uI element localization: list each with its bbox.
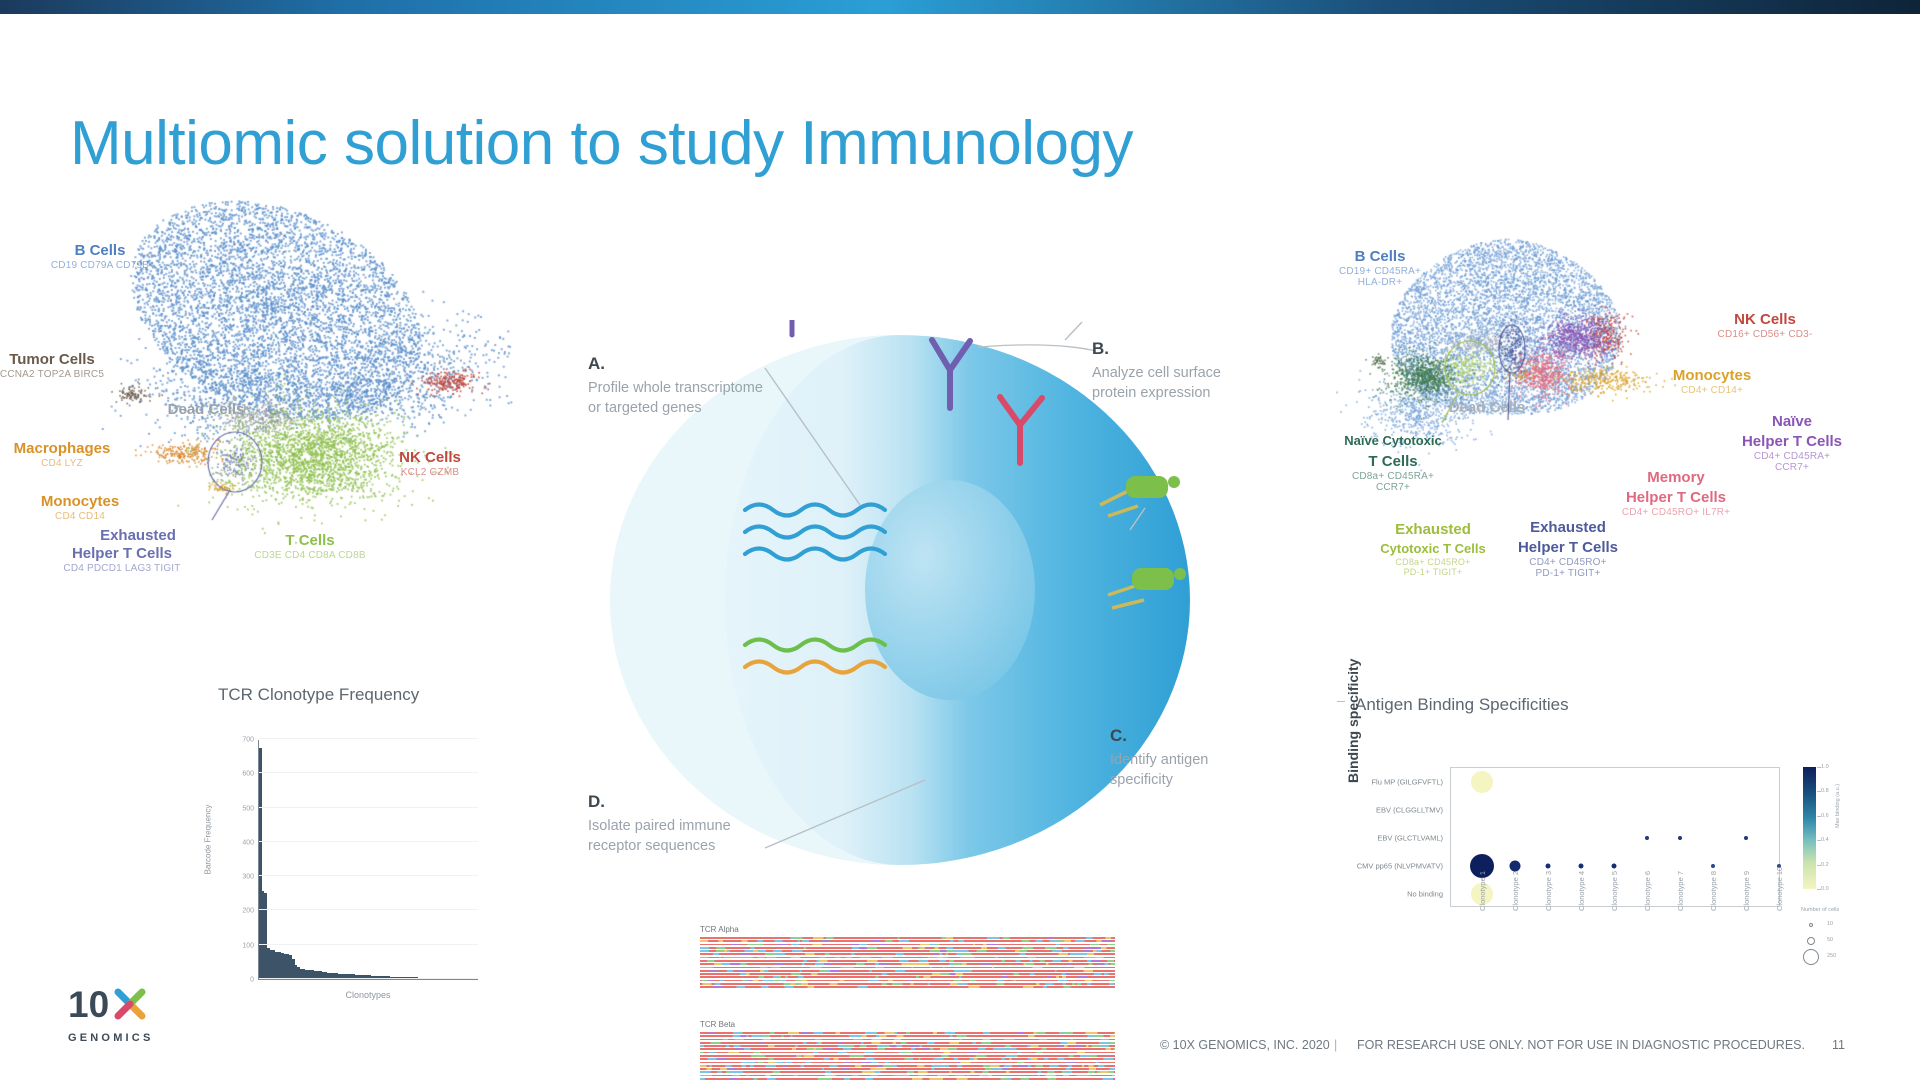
y-axis-tick: 0 [250,977,254,984]
step-key: C. [1110,724,1208,747]
step-text: Profile whole transcriptome [588,378,763,398]
sequence-read [700,963,1115,965]
label-title: NK Cells [399,450,461,467]
y-axis-tick: Flu MP (GILGFVFTL) [1371,778,1443,787]
data-point [1744,836,1748,840]
umap-label-t-cells: T CellsCD8a+ CD45RA+CCR7+ [1352,454,1434,493]
step-text: Identify antigen [1110,750,1208,770]
colorbar-tick-label: 0.6 [1821,813,1829,819]
label-title: B Cells [51,243,149,260]
data-point [1645,836,1649,840]
umap-label-helper-t-cells: Helper T CellsCD4+ CD45RO+PD-1+ TIGIT+ [1518,540,1618,579]
umap-label-nk-cells: NK CellsKCL2 GZMB [399,450,461,478]
label-title: Exhausted [1530,520,1606,537]
label-title: Helper T Cells [1742,434,1842,451]
diagram-step-b: B.Analyze cell surfaceprotein expression [1092,337,1221,403]
umap-label-nk-cells: NK CellsCD16+ CD56+ CD3- [1718,312,1813,340]
sequence-panel-title: TCR Beta [700,1020,1115,1029]
sequence-read [700,1055,1115,1057]
y-axis-tick: 600 [242,771,254,778]
sequence-read [700,957,1115,959]
label-title: NK Cells [1718,312,1813,329]
label-markers: CD16+ CD56+ CD3- [1718,329,1813,340]
data-point [1611,864,1616,869]
umap-label-monocytes: MonocytesCD4+ CD14+ [1673,368,1751,396]
gridline [259,807,478,808]
label-markers: CD3E CD4 CD8A CD8B [254,550,365,561]
umap-label-dead-cells: Dead Cells [168,402,245,419]
sequence-read [700,944,1115,946]
x-axis-tick: Clonotype 3 [1544,871,1553,911]
label-markers: CD4+ CD45RO+ IL7R+ [1622,507,1730,518]
label-title: Helper T Cells [1518,540,1618,557]
sequence-read [700,953,1115,955]
umap-label-na-ve: Naïve [1772,414,1812,431]
x-axis-tick: Clonotype 5 [1610,871,1619,911]
umap-label-exhausted: Exhausted [1530,520,1606,537]
step-key: A. [588,352,763,375]
sequence-read [700,1071,1115,1073]
data-point [1471,771,1493,793]
label-title: Memory [1647,470,1705,487]
gridline [259,738,478,739]
step-text: Analyze cell surface [1092,363,1221,383]
x-axis-tick: Clonotype 6 [1643,871,1652,911]
brand-logo: 10 GENOMICS [68,985,188,1044]
sequence-read [700,950,1115,952]
footer-disclaimer: FOR RESEARCH USE ONLY. NOT FOR USE IN DI… [1357,1038,1805,1052]
label-markers: CCR7+ [1352,482,1434,493]
umap-label-macrophages: MacrophagesCD4 LYZ [14,441,111,469]
x-axis-tick: Clonotype 2 [1511,871,1520,911]
label-title: Naïve [1772,414,1812,431]
y-axis-label: Barcode Frequency [204,805,213,875]
label-markers: CD19+ CD45RA+ [1339,266,1421,277]
y-axis-tick: No binding [1407,890,1443,899]
umap-label-helper-t-cells: Helper T CellsCD4+ CD45RA+CCR7+ [1742,434,1842,473]
gridline [259,909,478,910]
label-markers: PD-1+ TIGIT+ [1380,567,1485,577]
label-title: Helper T Cells [63,546,180,563]
sequence-read [700,976,1115,978]
y-axis-tick: 300 [242,874,254,881]
label-markers: CD4 LYZ [14,458,111,469]
colorbar-label: Max binding (a.u.) [1835,784,1841,828]
step-text: specificity [1110,770,1208,790]
sequence-read [700,1058,1115,1060]
label-title: B Cells [1339,249,1421,266]
sequence-read [700,980,1115,982]
step-text: receptor sequences [588,836,731,856]
step-text: protein expression [1092,383,1221,403]
data-point [1509,861,1520,872]
colorbar-tick-label: 0.4 [1821,837,1829,843]
sequence-panel: TCR Beta [700,1020,1115,1080]
gridline [259,875,478,876]
umap-label-exhausted: Exhausted [100,528,176,545]
x-axis-tick: Clonotype 1 [1478,871,1487,911]
x-axis-tick: Clonotype 7 [1676,871,1685,911]
sequence-read [700,960,1115,962]
antigen-binding-specificities-chart: Antigen Binding Specificities Binding sp… [1335,695,1895,1015]
sequence-read [700,1062,1115,1064]
antibody-leader-line [978,345,1096,351]
size-legend-marker [1807,937,1815,945]
label-title: T Cells [254,533,365,550]
sequence-read [700,947,1115,949]
umap-label-b-cells: B CellsCD19+ CD45RA+HLA-DR+ [1339,249,1421,288]
x-axis-tick: Clonotype 10 [1775,867,1784,911]
colorbar-tick-label: 0.8 [1821,788,1829,794]
sequence-read [700,1065,1115,1067]
label-title: Tumor Cells [0,352,104,369]
size-legend-marker [1809,923,1813,927]
label-markers: KCL2 GZMB [399,467,461,478]
sequence-read [700,983,1115,985]
slide-top-accent-bar [0,0,1920,14]
footer-separator: | [1334,1038,1337,1052]
label-markers: CD8a+ CD45RA+ [1352,471,1434,482]
label-markers: CCNA2 TOP2A BIRC5 [0,369,104,380]
size-legend-marker [1803,949,1819,965]
size-legend-value: 50 [1827,937,1833,943]
umap-label-tumor-cells: Tumor CellsCCNA2 TOP2A BIRC5 [0,352,104,380]
size-legend-value: 10 [1827,921,1833,927]
plot-area: 0100200300400500600700 [258,740,478,980]
colorbar-tick-label: 1.0 [1821,764,1829,770]
gridline [259,944,478,945]
umap-label-memory: Memory [1647,470,1705,487]
sequence-read [700,940,1115,942]
colorbar-tick-label: 0.2 [1821,862,1829,868]
label-markers: CD4 PDCD1 LAG3 TIGIT [63,563,180,574]
sequence-panel: TCR Alpha [700,925,1115,990]
y-axis-tick: 500 [242,805,254,812]
sequence-read [700,1042,1115,1044]
sequence-read [700,973,1115,975]
antibody-purple [770,320,816,335]
slide-page-number: 11 [1832,1038,1845,1052]
y-axis-tick: 100 [242,942,254,949]
logo-wordmark: GENOMICS [68,1032,188,1044]
y-axis-tick: 400 [242,839,254,846]
colorbar-tick-label: 0.0 [1821,886,1829,892]
label-title: Macrophages [14,441,111,458]
gridline [259,772,478,773]
label-title: Dead Cells [1449,400,1526,417]
umap-label-helper-t-cells: Helper T CellsCD4+ CD45RO+ IL7R+ [1622,490,1730,518]
x-axis-tick: Clonotype 8 [1709,871,1718,911]
sequence-read [700,1048,1115,1050]
svg-text:10: 10 [68,985,109,1025]
y-axis-tick: CMV pp65 (NLVPMVATV) [1357,862,1443,871]
sequence-read [700,986,1115,988]
sequence-read [700,1075,1115,1077]
step-text: Isolate paired immune [588,816,731,836]
data-point [1711,864,1715,868]
label-markers: HLA-DR+ [1339,277,1421,288]
step-key: B. [1092,337,1221,360]
sequence-read [700,1032,1115,1034]
label-markers: CD19 CD79A CD79B [51,260,149,271]
sequence-read [700,1078,1115,1080]
sequence-read [700,1068,1115,1070]
chart-title: Antigen Binding Specificities [1355,695,1569,715]
y-axis-tick: 700 [242,737,254,744]
footer-copyright: © 10X GENOMICS, INC. 2020 [1160,1038,1330,1052]
umap-label-cytotoxic-t-cells: Cytotoxic T CellsCD8a+ CD45RO+PD-1+ TIGI… [1380,542,1485,577]
size-legend-value: 250 [1827,953,1836,959]
label-markers: CD8a+ CD45RO+ [1380,557,1485,567]
umap-label-t-cells: T CellsCD3E CD4 CD8A CD8B [254,533,365,561]
sequence-panel-title: TCR Alpha [700,925,1115,934]
antibody-red-icon [1000,397,1042,463]
umap-label-monocytes: MonocytesCD4 CD14 [41,494,119,522]
label-title: Dead Cells [168,402,245,419]
size-legend-label: Number of cells [1801,907,1839,913]
diagram-step-d: D.Isolate paired immunereceptor sequence… [588,790,731,856]
colorbar [1803,767,1816,889]
label-markers: CD4+ CD45RA+ [1742,451,1842,462]
sequence-read [700,1035,1115,1037]
y-axis-tick: EBV (CLGGLLTMV) [1376,806,1443,815]
label-title: Monocytes [1673,368,1751,385]
x-axis-tick: Clonotype 9 [1742,871,1751,911]
antibody-purple-icon [932,340,970,408]
sequence-read [700,970,1115,972]
y-axis-label: Binding specificity [1345,659,1361,783]
page-title: Multiomic solution to study Immunology [70,108,1133,179]
diagram-step-a: A.Profile whole transcriptomeor targeted… [588,352,763,418]
label-title: Cytotoxic T Cells [1380,542,1485,557]
gene-expression-umap-plot: B CellsCD19 CD79A CD79BTumor CellsCCNA2 … [60,190,520,590]
y-axis-tick: EBV (GLCTLVAML) [1377,834,1443,843]
tick-dash [1337,701,1345,702]
chart-title: TCR Clonotype Frequency [218,685,500,705]
label-markers: CD4+ CD45RO+ [1518,557,1618,568]
gridline [259,978,478,979]
gridline [259,841,478,842]
x-axis-label: Clonotypes [258,990,478,1000]
tenx-logo-icon: 10 [68,985,160,1025]
label-title: Exhausted [1395,522,1471,539]
sequence-read [700,937,1115,939]
label-markers: CCR7+ [1742,462,1842,473]
label-title: Monocytes [41,494,119,511]
tcr-clonotype-frequency-chart: TCR Clonotype Frequency Barcode Frequenc… [200,685,500,1025]
label-markers: PD-1+ TIGIT+ [1518,568,1618,579]
data-point [1678,836,1682,840]
data-point [1578,864,1583,869]
umap-label-helper-t-cells: Helper T CellsCD4 PDCD1 LAG3 TIGIT [63,546,180,574]
step-key: D. [588,790,731,813]
umap-label-dead-cells: Dead Cells [1449,400,1526,417]
data-point [1545,864,1550,869]
cell-nucleus [865,480,1035,700]
x-axis-tick: Clonotype 4 [1577,871,1586,911]
sequence-read [700,967,1115,969]
label-title: T Cells [1352,454,1434,471]
step-text: or targeted genes [588,398,763,418]
label-markers: CD4 CD14 [41,511,119,522]
sequence-read [700,1045,1115,1047]
sequence-read [700,1052,1115,1054]
label-title: Exhausted [100,528,176,545]
label-title: Helper T Cells [1622,490,1730,507]
label-markers: CD4+ CD14+ [1673,385,1751,396]
diagram-step-c: C.Identify antigenspecificity [1110,724,1208,790]
umap-label-b-cells: B CellsCD19 CD79A CD79B [51,243,149,271]
umap-label-exhausted: Exhausted [1395,522,1471,539]
y-axis-tick: 200 [242,908,254,915]
sequence-read [700,1039,1115,1041]
